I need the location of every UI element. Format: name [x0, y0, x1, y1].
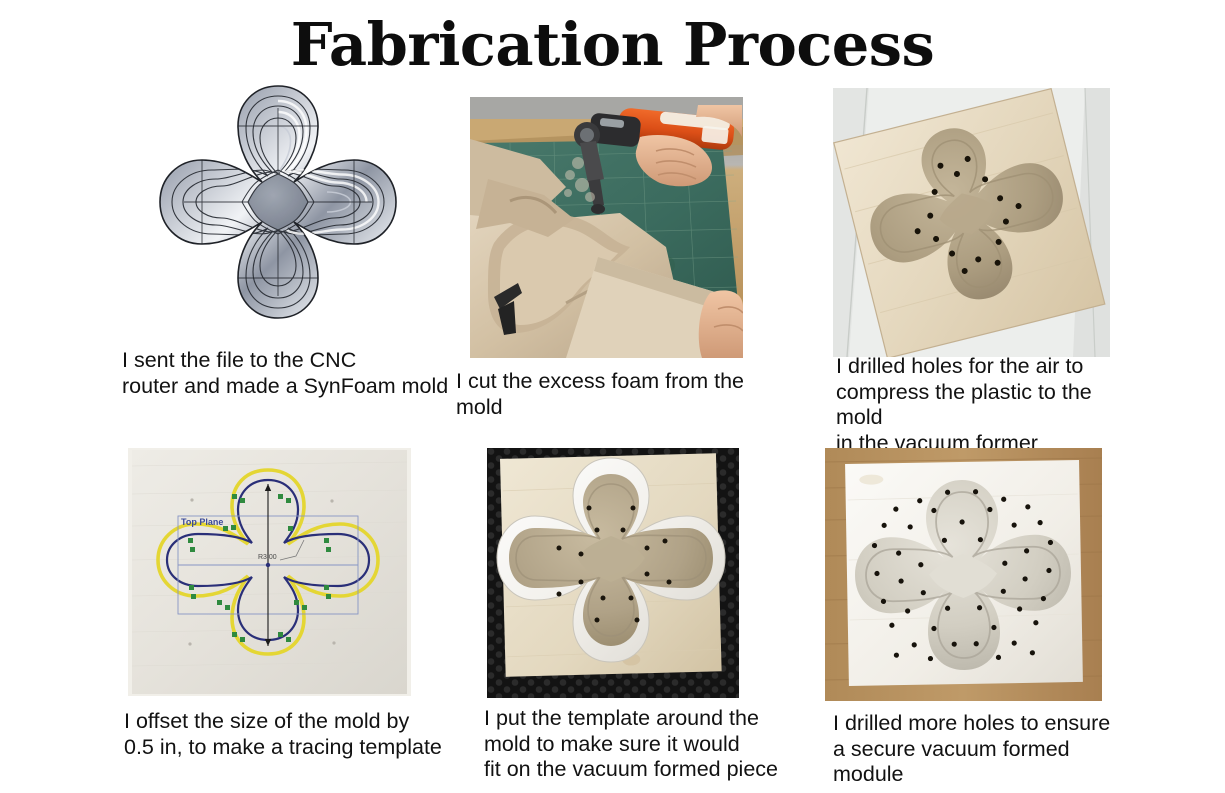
step-caption-2: I cut the excess foam from the mold: [456, 369, 776, 420]
step-caption-4: I offset the size of the mold by 0.5 in,…: [124, 709, 454, 760]
cad-render-image: [128, 78, 428, 346]
foam-cutting-photo: [470, 97, 743, 358]
more-holes-photo: [825, 448, 1102, 701]
step-caption-1: I sent the file to the CNC router and ma…: [122, 348, 452, 399]
slide-canvas: Fabrication Process: [0, 0, 1225, 793]
hand-lower: [699, 290, 743, 358]
template-fit-photo: [487, 448, 739, 698]
drilled-mold-photo: [833, 88, 1110, 357]
step-caption-6: I drilled more holes to ensure a secure …: [833, 711, 1143, 788]
page-title: Fabrication Process: [0, 14, 1225, 76]
top-plane-label: Top Plane: [181, 517, 223, 527]
step-caption-5: I put the template around the mold to ma…: [484, 706, 784, 783]
step-caption-3: I drilled holes for the air to compress …: [836, 354, 1136, 456]
dimension-label: R3.00: [258, 554, 277, 561]
cad-sketch-photo: R3.00 Top Plane: [128, 448, 411, 696]
white-board: [845, 460, 1083, 686]
cad-star-body: [160, 86, 396, 318]
